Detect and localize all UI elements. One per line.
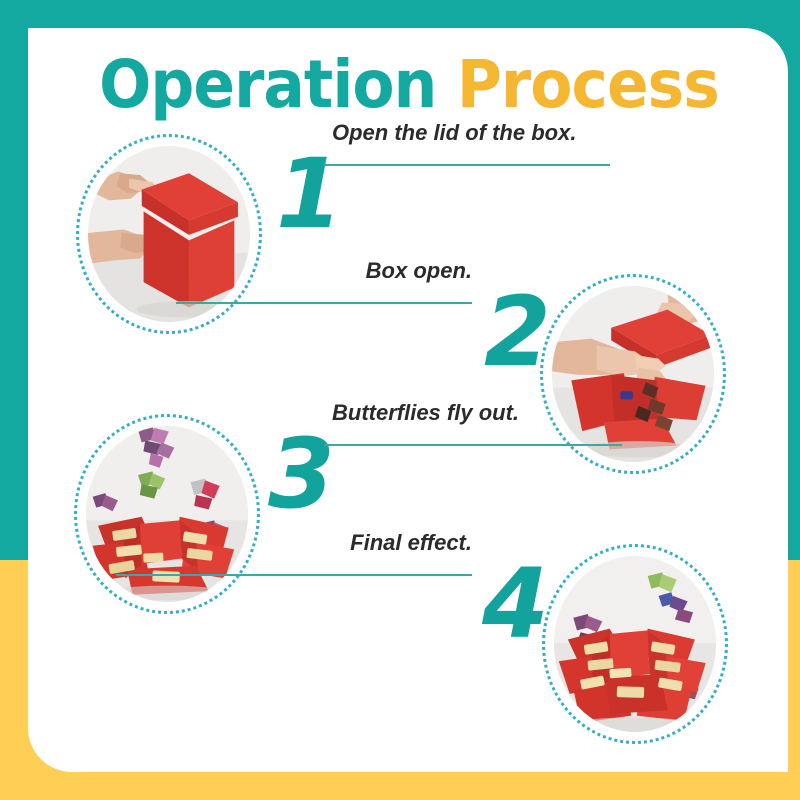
step-3-underline xyxy=(324,444,622,446)
step-3-number: 3 xyxy=(268,426,333,522)
step-2-underline xyxy=(176,302,472,304)
step-3-photo-ring xyxy=(74,414,260,614)
white-page-panel: Operation Process xyxy=(28,28,788,772)
step-4-caption: Final effect. xyxy=(290,530,472,556)
step-4-underline xyxy=(116,574,472,576)
step-1-caption: Open the lid of the box. xyxy=(332,120,576,146)
step-3-caption: Butterflies fly out. xyxy=(332,400,519,426)
step-1-underline xyxy=(324,164,610,166)
step-1-photo-ring xyxy=(76,134,262,334)
title-word-process: Process xyxy=(457,46,719,123)
step-1-number: 1 xyxy=(276,146,341,242)
step-4-number: 4 xyxy=(482,556,547,652)
step-4-photo xyxy=(554,556,716,732)
title-word-operation: Operation xyxy=(99,46,436,123)
step-2-number: 2 xyxy=(484,284,549,380)
step-2-photo xyxy=(552,286,714,462)
step-4-photo-ring xyxy=(542,544,728,744)
step-2-caption: Box open. xyxy=(306,258,472,284)
step-1-photo xyxy=(88,146,250,322)
page-title: Operation Process xyxy=(88,44,730,126)
